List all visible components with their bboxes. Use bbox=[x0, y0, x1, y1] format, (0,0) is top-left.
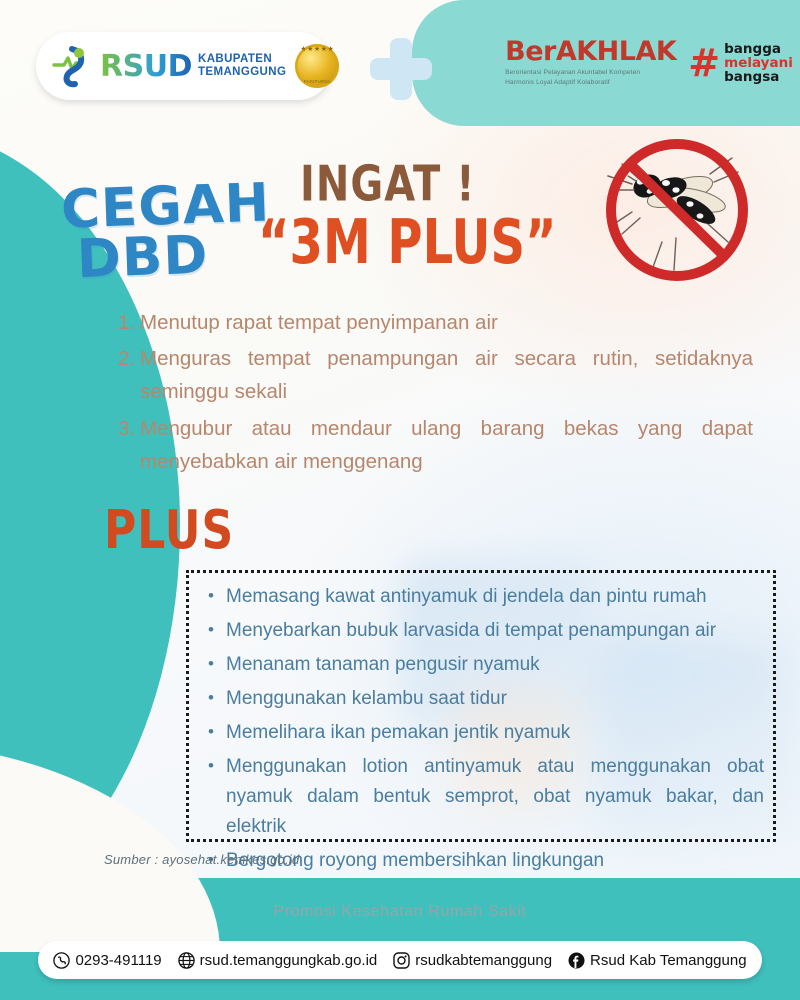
logo-subtitle: KABUPATEN TEMANGGUNG bbox=[198, 54, 286, 79]
list-item: 2. Menguras tempat penampungan air secar… bbox=[118, 342, 753, 408]
rsud-logo-text: RSUD KABUPATEN TEMANGGUNG bbox=[100, 49, 286, 84]
paripurna-medal-icon: ★★★★★ PARIPURNA bbox=[295, 44, 339, 88]
ingat-heading: INGAT ! bbox=[300, 160, 476, 209]
bullet-icon: • bbox=[208, 616, 226, 646]
logo-subtitle-line2: TEMANGGUNG bbox=[198, 67, 286, 79]
plus-item-text: Menggunakan kelambu saat tidur bbox=[226, 684, 764, 714]
berakhlak-text: BerAKHLAK Berorientasi Pelayanan Akuntab… bbox=[505, 38, 676, 88]
steps-list: 1. Menutup rapat tempat penyimpanan air … bbox=[118, 306, 753, 481]
berakhlak-subtitle-line2: Harmonis Loyal Adaptif Kolaboratif bbox=[505, 78, 676, 88]
step-number: 1. bbox=[118, 306, 140, 339]
berakhlak-logo-block: BerAKHLAK Berorientasi Pelayanan Akuntab… bbox=[498, 0, 800, 126]
list-item: • Menanam tanaman pengusir nyamuk bbox=[208, 650, 764, 680]
hashtag-icon: # bbox=[688, 48, 720, 78]
bangga-words: bangga melayani bangsa bbox=[724, 42, 793, 85]
promo-line: Promosi Kesehatan Rumah Sakit bbox=[0, 903, 800, 921]
step-number: 2. bbox=[118, 342, 140, 408]
step-text: Menguras tempat penampungan air secara r… bbox=[140, 342, 753, 408]
source-credit: Sumber : ayosehat.kemkes.go.id bbox=[104, 852, 299, 867]
step-number: 3. bbox=[118, 412, 140, 478]
globe-icon bbox=[178, 952, 195, 969]
bullet-icon: • bbox=[208, 582, 226, 612]
no-mosquito-sign-icon bbox=[592, 138, 762, 283]
contact-website[interactable]: rsud.temanggungkab.go.id bbox=[178, 952, 378, 969]
logo-brand: RSUD bbox=[100, 49, 192, 84]
plus-item-text: Menanam tanaman pengusir nyamuk bbox=[226, 650, 764, 680]
plus-item-text: Menyebarkan bubuk larvasida di tempat pe… bbox=[226, 616, 764, 646]
rsud-logo-pill: RSUD KABUPATEN TEMANGGUNG ★★★★★ PARIPURN… bbox=[36, 32, 332, 100]
list-item: 3. Mengubur atau mendaur ulang barang be… bbox=[118, 412, 753, 478]
contact-instagram-label: rsudkabtemanggung bbox=[415, 952, 552, 969]
contact-facebook[interactable]: Rsud Kab Temanggung bbox=[568, 952, 747, 969]
poster-canvas: RSUD KABUPATEN TEMANGGUNG ★★★★★ PARIPURN… bbox=[0, 0, 800, 1000]
list-item: • Menggunakan kelambu saat tidur bbox=[208, 684, 764, 714]
plus-item-text: Memelihara ikan pemakan jentik nyamuk bbox=[226, 718, 764, 748]
title-line-2: DBD bbox=[76, 228, 273, 285]
bangga-melayani-bangsa-logo: # bangga melayani bangsa bbox=[688, 42, 793, 85]
berakhlak-subtitle: Berorientasi Pelayanan Akuntabel Kompete… bbox=[505, 68, 676, 88]
logo-subtitle-line1: KABUPATEN bbox=[198, 54, 286, 66]
contact-bar: 0293-491119 rsud.temanggungkab.go.id bbox=[38, 941, 762, 979]
plus-item-text: Bergotong royong membersihkan lingkungan bbox=[226, 846, 764, 876]
berakhlak-subtitle-line1: Berorientasi Pelayanan Akuntabel Kompete… bbox=[505, 68, 676, 78]
list-item: • Memelihara ikan pemakan jentik nyamuk bbox=[208, 718, 764, 748]
list-item: • Menyebarkan bubuk larvasida di tempat … bbox=[208, 616, 764, 646]
contact-phone[interactable]: 0293-491119 bbox=[53, 952, 161, 969]
step-text: Menutup rapat tempat penyimpanan air bbox=[140, 306, 753, 339]
contact-phone-label: 0293-491119 bbox=[75, 952, 161, 969]
step-text: Mengubur atau mendaur ulang barang bekas… bbox=[140, 412, 753, 478]
contact-instagram[interactable]: rsudkabtemanggung bbox=[393, 952, 552, 969]
plus-item-text: Memasang kawat antinyamuk di jendela dan… bbox=[226, 582, 764, 612]
facebook-icon bbox=[568, 952, 585, 969]
bullet-icon: • bbox=[208, 650, 226, 680]
3m-plus-heading: “3M PLUS” bbox=[258, 212, 557, 273]
list-item: 1. Menutup rapat tempat penyimpanan air bbox=[118, 306, 753, 339]
contact-website-label: rsud.temanggungkab.go.id bbox=[200, 952, 378, 969]
list-item: • Memasang kawat antinyamuk di jendela d… bbox=[208, 582, 764, 612]
bullet-icon: • bbox=[208, 684, 226, 714]
instagram-icon bbox=[393, 952, 410, 969]
plus-list: • Memasang kawat antinyamuk di jendela d… bbox=[208, 582, 764, 880]
bullet-icon: • bbox=[208, 718, 226, 748]
bangga-word-2: melayani bbox=[724, 56, 793, 70]
medal-stars: ★★★★★ bbox=[295, 45, 339, 53]
contact-facebook-label: Rsud Kab Temanggung bbox=[590, 952, 747, 969]
medal-label: PARIPURNA bbox=[295, 79, 339, 84]
plus-item-text: Menggunakan lotion antinyamuk atau mengg… bbox=[226, 752, 764, 842]
plus-heading: PLUS bbox=[104, 504, 234, 558]
page-title-cegah-dbd: CEGAH DBD bbox=[60, 178, 272, 285]
bullet-icon: • bbox=[208, 752, 226, 842]
bangga-word-3: bangsa bbox=[724, 70, 793, 84]
list-item: • Menggunakan lotion antinyamuk atau men… bbox=[208, 752, 764, 842]
phone-icon bbox=[53, 952, 70, 969]
berakhlak-title: BerAKHLAK bbox=[505, 38, 676, 65]
bangga-word-1: bangga bbox=[724, 42, 793, 56]
medical-cross-icon bbox=[370, 38, 432, 100]
rsud-hospital-logo-icon bbox=[48, 43, 94, 89]
